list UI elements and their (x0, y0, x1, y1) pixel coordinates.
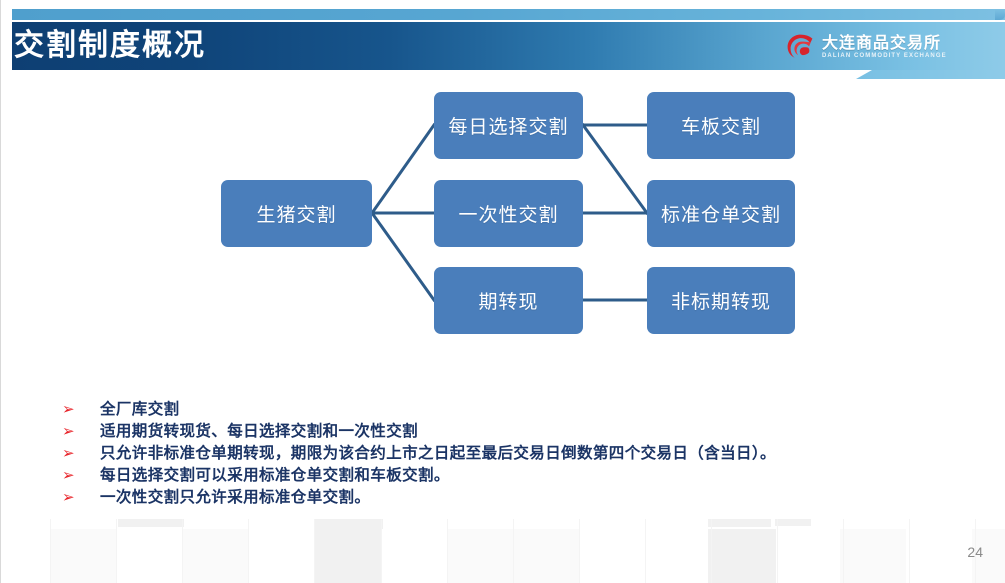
list-item-text: 一次性交割只允许采用标准仓单交割。 (100, 486, 370, 508)
list-item: ➢ 每日选择交割可以采用标准仓单交割和车板交割。 (62, 464, 962, 486)
header-band-notch (856, 70, 1005, 79)
bullet-list: ➢ 全厂库交割 ➢ 适用期货转现货、每日选择交割和一次性交割 ➢ 只允许非标准仓… (62, 398, 962, 508)
list-item-text: 只允许非标准仓单期转现，期限为该合约上市之日起至最后交易日倒数第四个交易日（含当… (100, 442, 776, 464)
node-truck-board-delivery[interactable]: 车板交割 (647, 92, 795, 159)
logo-text-block: 大连商品交易所 DALIAN COMMODITY EXCHANGE (822, 35, 947, 59)
delivery-system-flowchart: 生猪交割 每日选择交割 一次性交割 期转现 车板交割 标准仓单交割 非标期转现 (0, 80, 1005, 355)
list-item-text: 全厂库交割 (100, 398, 180, 420)
node-label: 一次性交割 (458, 200, 558, 227)
node-futures-to-spot[interactable]: 期转现 (434, 267, 583, 334)
list-item-text: 每日选择交割可以采用标准仓单交割和车板交割。 (100, 464, 450, 486)
node-daily-selection-delivery[interactable]: 每日选择交割 (434, 92, 583, 159)
node-label: 车板交割 (681, 112, 761, 139)
page-title: 交割制度概况 (14, 24, 206, 68)
list-item: ➢ 只允许非标准仓单期转现，期限为该合约上市之日起至最后交易日倒数第四个交易日（… (62, 442, 962, 464)
arrow-bullet-icon: ➢ (62, 420, 100, 442)
node-non-standard-futures-to-spot[interactable]: 非标期转现 (647, 267, 795, 334)
connector-root-to-daily (372, 125, 434, 213)
logo-name-en: DALIAN COMMODITY EXCHANGE (822, 53, 947, 59)
node-one-time-delivery[interactable]: 一次性交割 (434, 180, 583, 247)
node-label: 生猪交割 (256, 200, 336, 227)
slide-canvas: 交割制度概况 大连商品交易所 DALIAN COMMODITY EXCHANGE (0, 0, 1005, 583)
logo-name-cn: 大连商品交易所 (822, 35, 947, 51)
connector-daily-to-warrant (583, 125, 647, 213)
connector-root-to-futures-spot (372, 213, 434, 300)
arrow-bullet-icon: ➢ (62, 464, 100, 486)
list-item: ➢ 适用期货转现货、每日选择交割和一次性交割 (62, 420, 962, 442)
arrow-bullet-icon: ➢ (62, 442, 100, 464)
node-label: 期转现 (478, 287, 538, 314)
slide-header: 交割制度概况 大连商品交易所 DALIAN COMMODITY EXCHANGE (0, 0, 1005, 80)
list-item: ➢ 一次性交割只允许采用标准仓单交割。 (62, 486, 962, 508)
node-label: 每日选择交割 (448, 112, 568, 139)
exchange-logo: 大连商品交易所 DALIAN COMMODITY EXCHANGE (785, 30, 1000, 64)
node-label: 非标期转现 (671, 287, 771, 314)
list-item: ➢ 全厂库交割 (62, 398, 962, 420)
footer-texture (0, 519, 1005, 583)
page-number: 24 (967, 544, 983, 560)
dce-swirl-icon (785, 32, 815, 62)
node-label: 标准仓单交割 (661, 200, 781, 227)
arrow-bullet-icon: ➢ (62, 486, 100, 508)
header-top-strip (12, 9, 1005, 20)
node-root-hog-delivery[interactable]: 生猪交割 (221, 180, 372, 247)
header-top-strip-cap (995, 9, 1005, 20)
arrow-bullet-icon: ➢ (62, 398, 100, 420)
node-standard-warrant-delivery[interactable]: 标准仓单交割 (647, 180, 795, 247)
list-item-text: 适用期货转现货、每日选择交割和一次性交割 (100, 420, 418, 442)
